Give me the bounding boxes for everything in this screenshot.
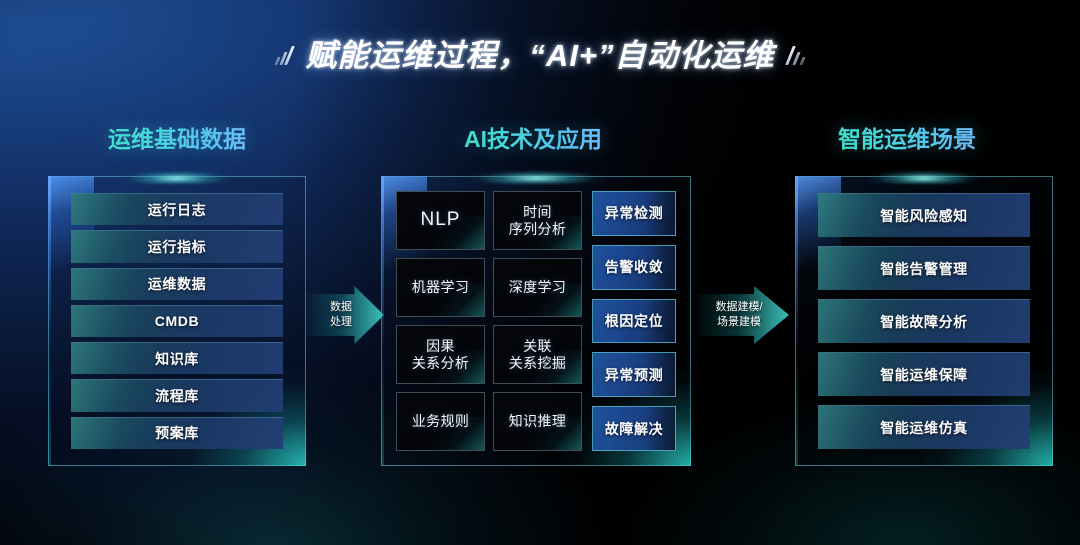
grid-item[interactable]: 业务规则 bbox=[396, 392, 485, 451]
grid-item-label: NLP bbox=[421, 209, 461, 231]
list-item-label: 智能运维保障 bbox=[880, 365, 968, 385]
panel-basic-data: 运行日志 运行指标 运维数据 CMDB 知识库 流程库 预案库 bbox=[48, 176, 306, 466]
flow-arrow-modeling: 数据建模/ 场景建模 bbox=[697, 286, 789, 344]
list-item[interactable]: CMDB bbox=[71, 305, 283, 337]
list-item[interactable]: 告警收敛 bbox=[592, 245, 676, 290]
grid-item[interactable]: 知识推理 bbox=[493, 392, 582, 451]
grid-item[interactable]: 深度学习 bbox=[493, 258, 582, 317]
list-item[interactable]: 异常检测 bbox=[592, 191, 676, 236]
slide-title-row: 赋能运维过程，“AI+”自动化运维 bbox=[0, 24, 1080, 80]
panel-left-edge bbox=[48, 176, 51, 466]
list-item[interactable]: 异常预测 bbox=[592, 352, 676, 397]
list-item-label: 异常检测 bbox=[605, 203, 663, 223]
grid-item-label: 因果 关系分析 bbox=[412, 338, 470, 371]
column-heading-basic-data: 运维基础数据 bbox=[108, 120, 246, 154]
panel-left-edge bbox=[381, 176, 384, 466]
grid-item[interactable]: NLP bbox=[396, 191, 485, 250]
flow-arrow-data-processing: 数据 处理 bbox=[306, 286, 384, 344]
grid-item-label: 关联 关系挖掘 bbox=[509, 338, 567, 371]
list-item[interactable]: 根因定位 bbox=[592, 299, 676, 344]
list-item[interactable]: 智能风险感知 bbox=[818, 193, 1030, 237]
panel-top-glow bbox=[121, 170, 234, 184]
list-item-label: 知识库 bbox=[155, 349, 199, 369]
ai-tech-content: NLP 时间 序列分析 机器学习 深度学习 因果 关系分析 关联 关系挖掘 业务… bbox=[396, 191, 676, 451]
panel-top-glow bbox=[868, 170, 981, 184]
list-item-label: 运行指标 bbox=[148, 237, 206, 257]
grid-item[interactable]: 时间 序列分析 bbox=[493, 191, 582, 250]
column-heading-scenarios: 智能运维场景 bbox=[838, 120, 976, 154]
list-item-label: 智能故障分析 bbox=[880, 312, 968, 332]
arrow-label: 数据建模/ 场景建模 bbox=[697, 286, 789, 344]
grid-item[interactable]: 关联 关系挖掘 bbox=[493, 325, 582, 384]
list-item-label: 智能告警管理 bbox=[880, 259, 968, 279]
list-item-label: 预案库 bbox=[155, 423, 199, 443]
list-item[interactable]: 运行日志 bbox=[71, 193, 283, 225]
title-decoration-right-icon bbox=[789, 39, 804, 65]
list-item-label: 运行日志 bbox=[148, 200, 206, 220]
grid-item-label: 机器学习 bbox=[412, 279, 470, 296]
slide-title: 赋能运维过程，“AI+”自动化运维 bbox=[305, 30, 774, 75]
ai-technique-grid: NLP 时间 序列分析 机器学习 深度学习 因果 关系分析 关联 关系挖掘 业务… bbox=[396, 191, 582, 451]
list-item[interactable]: 知识库 bbox=[71, 342, 283, 374]
list-item[interactable]: 智能运维保障 bbox=[818, 352, 1030, 396]
scenario-list: 智能风险感知 智能告警管理 智能故障分析 智能运维保障 智能运维仿真 bbox=[818, 193, 1030, 449]
list-item-label: 故障解决 bbox=[605, 419, 663, 439]
list-item-label: 智能风险感知 bbox=[880, 206, 968, 226]
list-item-label: 告警收敛 bbox=[605, 257, 663, 277]
list-item-label: 根因定位 bbox=[605, 311, 663, 331]
list-item[interactable]: 智能运维仿真 bbox=[818, 405, 1030, 449]
list-item[interactable]: 预案库 bbox=[71, 417, 283, 449]
panel-ai-tech: NLP 时间 序列分析 机器学习 深度学习 因果 关系分析 关联 关系挖掘 业务… bbox=[381, 176, 691, 466]
list-item-label: CMDB bbox=[155, 313, 199, 329]
list-item[interactable]: 故障解决 bbox=[592, 406, 676, 451]
grid-item-label: 深度学习 bbox=[509, 279, 567, 296]
slide-canvas: 赋能运维过程，“AI+”自动化运维 运维基础数据 AI技术及应用 智能运维场景 … bbox=[0, 0, 1080, 545]
list-item-label: 流程库 bbox=[155, 386, 199, 406]
column-heading-ai-tech: AI技术及应用 bbox=[464, 120, 602, 154]
list-item-label: 智能运维仿真 bbox=[880, 418, 968, 438]
list-item[interactable]: 运行指标 bbox=[71, 230, 283, 262]
ai-application-list: 异常检测 告警收敛 根因定位 异常预测 故障解决 bbox=[592, 191, 676, 451]
list-item-label: 运维数据 bbox=[148, 274, 206, 294]
title-decoration-left-icon bbox=[276, 39, 291, 65]
list-item[interactable]: 智能故障分析 bbox=[818, 299, 1030, 343]
grid-item-label: 知识推理 bbox=[509, 413, 567, 430]
basic-data-list: 运行日志 运行指标 运维数据 CMDB 知识库 流程库 预案库 bbox=[71, 193, 283, 449]
grid-item-label: 时间 序列分析 bbox=[509, 204, 567, 237]
grid-item[interactable]: 因果 关系分析 bbox=[396, 325, 485, 384]
list-item[interactable]: 智能告警管理 bbox=[818, 246, 1030, 290]
panel-left-edge bbox=[795, 176, 798, 466]
list-item[interactable]: 流程库 bbox=[71, 379, 283, 411]
list-item[interactable]: 运维数据 bbox=[71, 268, 283, 300]
grid-item[interactable]: 机器学习 bbox=[396, 258, 485, 317]
list-item-label: 异常预测 bbox=[605, 365, 663, 385]
panel-top-glow bbox=[468, 170, 604, 184]
panel-scenarios: 智能风险感知 智能告警管理 智能故障分析 智能运维保障 智能运维仿真 bbox=[795, 176, 1053, 466]
arrow-label: 数据 处理 bbox=[306, 286, 384, 344]
grid-item-label: 业务规则 bbox=[412, 413, 470, 430]
